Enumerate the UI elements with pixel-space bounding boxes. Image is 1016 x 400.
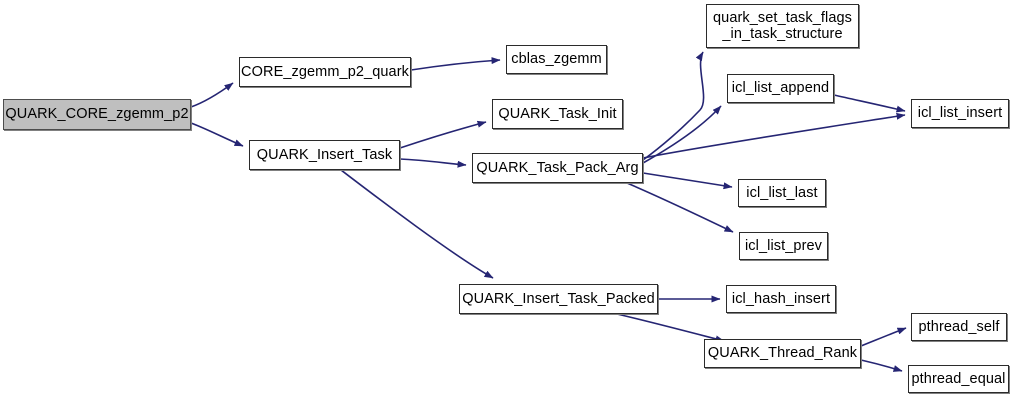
call-edge — [834, 95, 905, 111]
call-edge — [191, 83, 233, 107]
graph-node-pthread-equal[interactable]: pthread_equal — [908, 365, 1009, 393]
graph-node-icl-list-prev[interactable]: icl_list_prev — [739, 232, 828, 260]
graph-node-quark-core-zgemm-p2[interactable]: QUARK_CORE_zgemm_p2 — [3, 99, 191, 130]
call-edge — [191, 123, 243, 146]
graph-node-label: cblas_zgemm — [506, 51, 607, 67]
call-edge — [400, 159, 466, 165]
call-edge — [643, 173, 732, 187]
graph-node-icl-list-append[interactable]: icl_list_append — [727, 74, 834, 103]
graph-node-icl-list-last[interactable]: icl_list_last — [738, 179, 826, 207]
graph-node-quark-set-task-flags-in-task-structure[interactable]: quark_set_task_flags _in_task_structure — [706, 4, 859, 48]
graph-node-icl-hash-insert[interactable]: icl_hash_insert — [726, 285, 836, 313]
call-edge — [341, 170, 493, 278]
graph-node-cblas-zgemm[interactable]: cblas_zgemm — [506, 45, 607, 74]
graph-node-label: quark_set_task_flags _in_task_structure — [708, 10, 857, 42]
graph-node-quark-thread-rank[interactable]: QUARK_Thread_Rank — [704, 339, 861, 368]
graph-node-label: QUARK_Insert_Task — [252, 147, 397, 163]
graph-node-label: QUARK_Insert_Task_Packed — [457, 291, 660, 307]
call-edge — [861, 360, 902, 371]
graph-node-label: QUARK_Task_Pack_Arg — [471, 160, 643, 176]
graph-node-quark-task-init[interactable]: QUARK_Task_Init — [492, 99, 623, 129]
call-edge — [627, 183, 733, 232]
graph-node-label: icl_list_append — [727, 80, 834, 96]
graph-node-pthread-self[interactable]: pthread_self — [911, 313, 1007, 341]
graph-node-core-zgemm-p2-quark[interactable]: CORE_zgemm_p2_quark — [239, 57, 411, 87]
graph-node-label: icl_list_last — [741, 185, 822, 201]
graph-node-quark-insert-task-packed[interactable]: QUARK_Insert_Task_Packed — [459, 284, 658, 314]
call-graph-diagram: QUARK_CORE_zgemm_p2CORE_zgemm_p2_quarkQU… — [0, 0, 1016, 400]
graph-node-label: icl_hash_insert — [727, 291, 835, 307]
graph-node-label: QUARK_Thread_Rank — [703, 345, 862, 361]
graph-node-label: CORE_zgemm_p2_quark — [236, 64, 414, 80]
graph-node-label: QUARK_CORE_zgemm_p2 — [0, 106, 193, 122]
graph-node-quark-task-pack-arg[interactable]: QUARK_Task_Pack_Arg — [472, 153, 643, 183]
graph-node-label: pthread_self — [913, 319, 1004, 335]
graph-node-label: QUARK_Task_Init — [493, 106, 621, 122]
graph-node-label: icl_list_insert — [913, 105, 1008, 121]
call-edge — [861, 328, 906, 346]
graph-node-label: icl_list_prev — [740, 238, 827, 254]
call-edge — [411, 60, 500, 70]
call-edge — [643, 106, 721, 163]
call-edge — [643, 52, 704, 160]
graph-node-quark-insert-task[interactable]: QUARK_Insert_Task — [249, 140, 400, 170]
call-edge — [643, 115, 905, 158]
graph-node-label: pthread_equal — [906, 371, 1010, 387]
call-edge — [400, 122, 486, 148]
call-edge — [617, 314, 724, 341]
graph-node-icl-list-insert[interactable]: icl_list_insert — [911, 99, 1009, 128]
